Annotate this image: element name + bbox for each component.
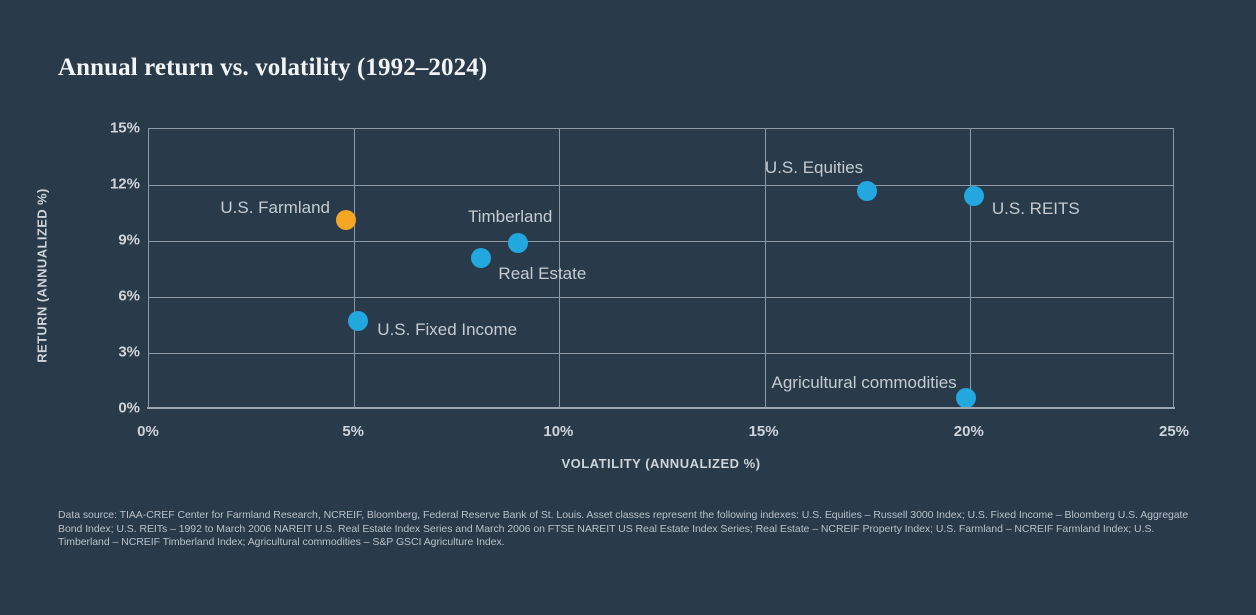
data-point[interactable] bbox=[857, 181, 877, 201]
x-tick-label: 0% bbox=[137, 423, 159, 440]
data-point[interactable] bbox=[471, 248, 491, 268]
data-point[interactable] bbox=[336, 210, 356, 230]
x-tick-label: 20% bbox=[954, 423, 984, 440]
chart-figure: Annual return vs. volatility (1992–2024)… bbox=[0, 0, 1256, 615]
y-tick-label: 9% bbox=[80, 232, 140, 249]
x-axis-line bbox=[147, 407, 1175, 409]
gridline-horizontal bbox=[149, 297, 1173, 298]
gridline-horizontal bbox=[149, 241, 1173, 242]
data-point-label: Timberland bbox=[468, 207, 552, 227]
data-point-label: U.S. REITS bbox=[992, 199, 1080, 219]
x-tick-label: 10% bbox=[543, 423, 573, 440]
data-point[interactable] bbox=[508, 233, 528, 253]
data-point[interactable] bbox=[348, 311, 368, 331]
y-tick-label: 3% bbox=[80, 344, 140, 361]
x-tick-label: 5% bbox=[342, 423, 364, 440]
data-point[interactable] bbox=[956, 388, 976, 408]
y-tick-label: 15% bbox=[80, 120, 140, 137]
x-tick-label: 25% bbox=[1159, 423, 1189, 440]
data-point[interactable] bbox=[964, 186, 984, 206]
y-tick-label: 0% bbox=[80, 400, 140, 417]
footnote-source-note: Data source: TIAA-CREF Center for Farmla… bbox=[58, 509, 1204, 550]
gridline-vertical bbox=[354, 129, 355, 408]
data-point-label: Real Estate bbox=[498, 264, 586, 284]
y-tick-label: 6% bbox=[80, 288, 140, 305]
x-tick-label: 15% bbox=[749, 423, 779, 440]
data-point-label: U.S. Farmland bbox=[220, 198, 330, 218]
data-point-label: U.S. Fixed Income bbox=[377, 320, 517, 340]
gridline-horizontal bbox=[149, 353, 1173, 354]
gridline-horizontal bbox=[149, 185, 1173, 186]
data-point-label: U.S. Equities bbox=[765, 158, 863, 178]
data-point-label: Agricultural commodities bbox=[772, 373, 957, 393]
y-tick-label: 12% bbox=[80, 176, 140, 193]
plot-area: U.S. FarmlandU.S. Fixed IncomeReal Estat… bbox=[148, 128, 1174, 408]
y-axis-title: RETURN (ANNUALIZED %) bbox=[35, 146, 50, 406]
gridline-vertical bbox=[970, 129, 971, 408]
x-axis-title: VOLATILITY (ANNUALIZED %) bbox=[148, 456, 1174, 471]
